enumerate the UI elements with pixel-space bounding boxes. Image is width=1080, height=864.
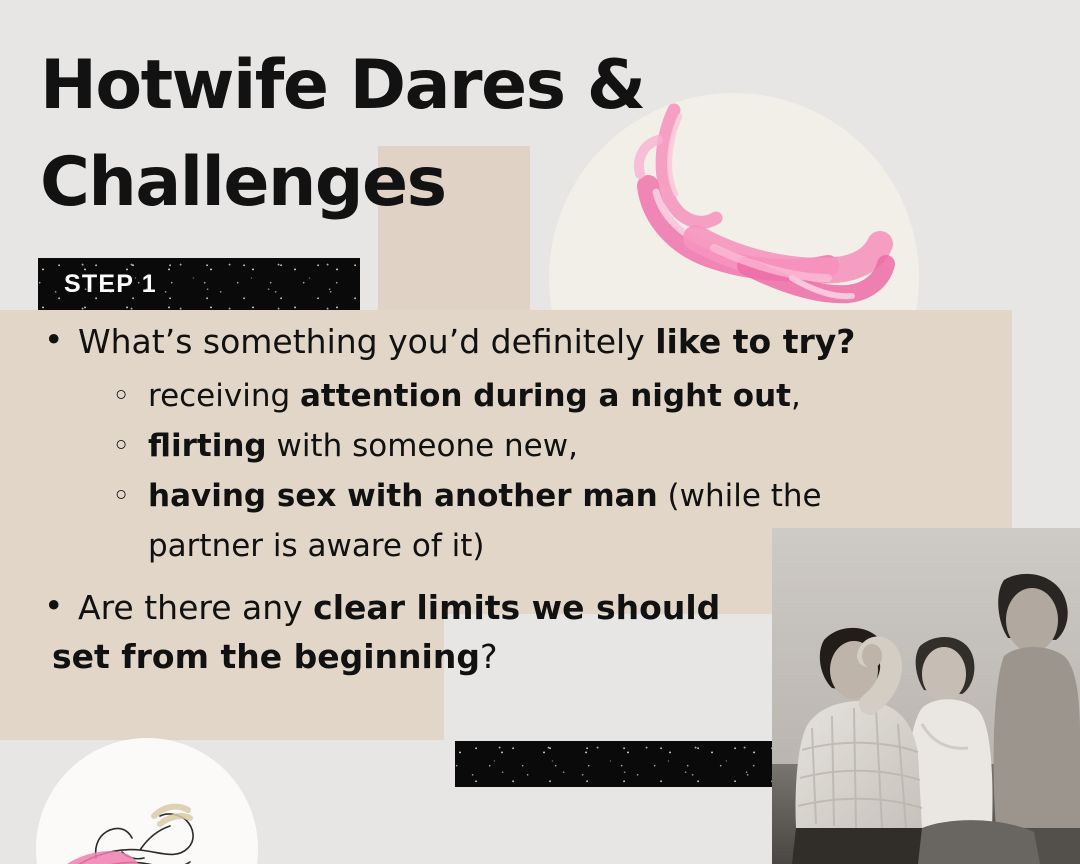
sub-bullet-2-tail: with someone new, xyxy=(267,428,578,464)
title-line-2: Challenges xyxy=(40,135,740,232)
bullet-2-continuation-tail: ? xyxy=(480,637,498,676)
starry-strip-bottom xyxy=(455,741,788,787)
line-art-sketch xyxy=(36,738,258,864)
slide-title: Hotwife Dares & Challenges xyxy=(40,38,740,231)
bullet-1-lead: What’s something you’d definitely xyxy=(78,322,655,361)
bullet-2-strong: clear limits we should xyxy=(313,588,720,627)
bullet-2-lead: Are there any xyxy=(78,588,313,627)
bullet-2-continuation-strong: set from the beginning xyxy=(52,637,480,676)
couple-photo xyxy=(772,528,1080,864)
sub-bullet-1-lead: receiving xyxy=(148,378,300,414)
sub-bullet-1-strong: attention during a night out xyxy=(300,378,791,414)
slide-canvas: Hotwife Dares & Challenges STEP 1 What’s… xyxy=(0,0,1080,864)
sub-bullet-2-strong: flirting xyxy=(148,428,267,464)
bullet-item-1: What’s something you’d definitely like t… xyxy=(38,318,978,367)
sub-bullet-1-tail: , xyxy=(791,378,801,414)
title-line-1: Hotwife Dares & xyxy=(40,38,740,135)
bullet-1-strong: like to try? xyxy=(655,322,855,361)
sub-bullet-3-strong: having sex with another man xyxy=(148,478,658,514)
sub-bullet-3-tail: (while the xyxy=(658,478,822,514)
line-art-circle xyxy=(36,738,258,864)
step-badge-label: STEP 1 xyxy=(64,258,157,310)
step-badge: STEP 1 xyxy=(38,258,360,310)
sub-bullet-item-2: flirting with someone new, xyxy=(38,421,978,471)
sub-bullet-item-1: receiving attention during a night out, xyxy=(38,371,978,421)
